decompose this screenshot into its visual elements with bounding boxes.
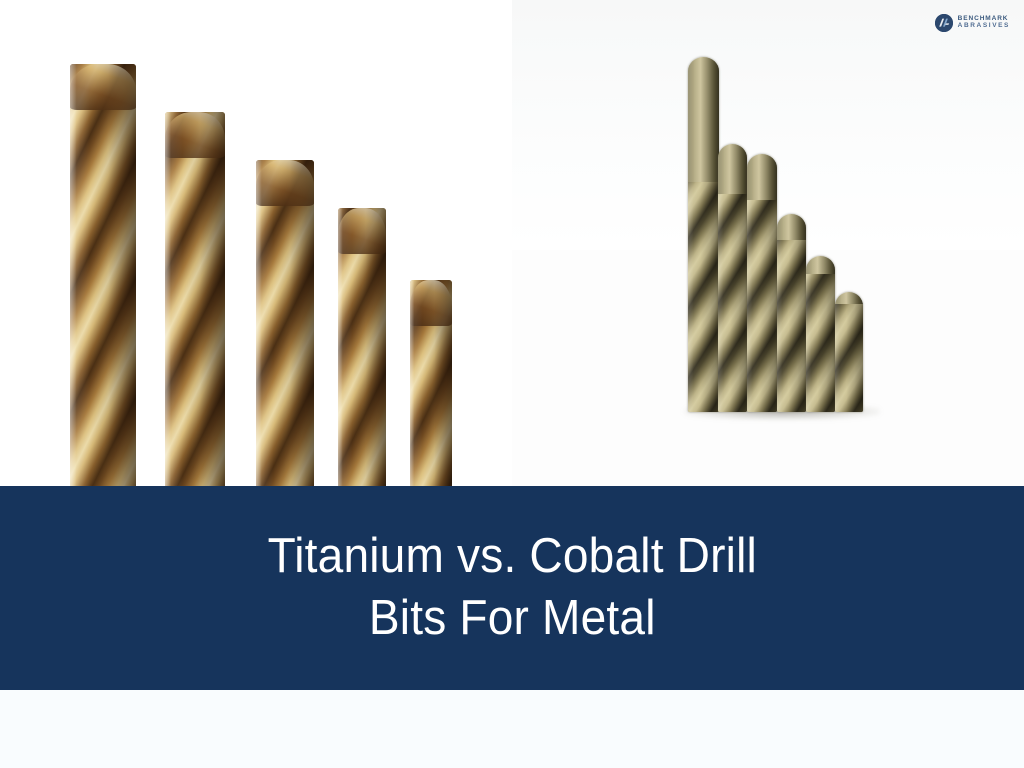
shading-overlay (777, 214, 806, 412)
slide-canvas: BENCHMARK ABRASIVES Titanium vs. Cobalt … (0, 0, 1024, 768)
title-banner: Titanium vs. Cobalt Drill Bits For Metal (0, 486, 1024, 690)
titanium-bit-3 (256, 160, 314, 486)
cobalt-drill-bits-photo (512, 0, 1024, 486)
cobalt-bit-6 (835, 292, 863, 412)
benchmark-abrasives-logo[interactable]: BENCHMARK ABRASIVES (935, 14, 1010, 32)
titanium-bit-1 (70, 64, 136, 486)
cobalt-bit-4 (777, 214, 806, 412)
cobalt-bit-5 (806, 256, 835, 412)
logo-text-line2: ABRASIVES (958, 23, 1010, 30)
shading-overlay (165, 112, 225, 486)
hero-image-collage: BENCHMARK ABRASIVES (0, 0, 1024, 486)
cobalt-bit-3 (747, 154, 777, 412)
shading-overlay (718, 144, 747, 412)
shading-overlay (747, 154, 777, 412)
footer-strip (0, 690, 1024, 768)
shading-overlay (835, 292, 863, 412)
shading-overlay (688, 57, 719, 412)
titanium-drill-bits-photo (0, 0, 512, 486)
shading-overlay (256, 160, 314, 486)
shading-overlay (806, 256, 835, 412)
shading-overlay (410, 280, 452, 486)
shading-overlay (70, 64, 136, 486)
page-title: Titanium vs. Cobalt Drill Bits For Metal (267, 526, 756, 649)
titanium-bit-2 (165, 112, 225, 486)
logo-badge-icon (935, 14, 953, 32)
shading-overlay (338, 208, 386, 486)
page-title-line1: Titanium vs. Cobalt Drill (267, 526, 756, 588)
cobalt-bit-1 (688, 57, 719, 412)
titanium-bit-4 (338, 208, 386, 486)
page-title-line2: Bits For Metal (267, 588, 756, 650)
logo-wordmark: BENCHMARK ABRASIVES (958, 16, 1010, 30)
titanium-bit-5 (410, 280, 452, 486)
cobalt-bit-2 (718, 144, 747, 412)
